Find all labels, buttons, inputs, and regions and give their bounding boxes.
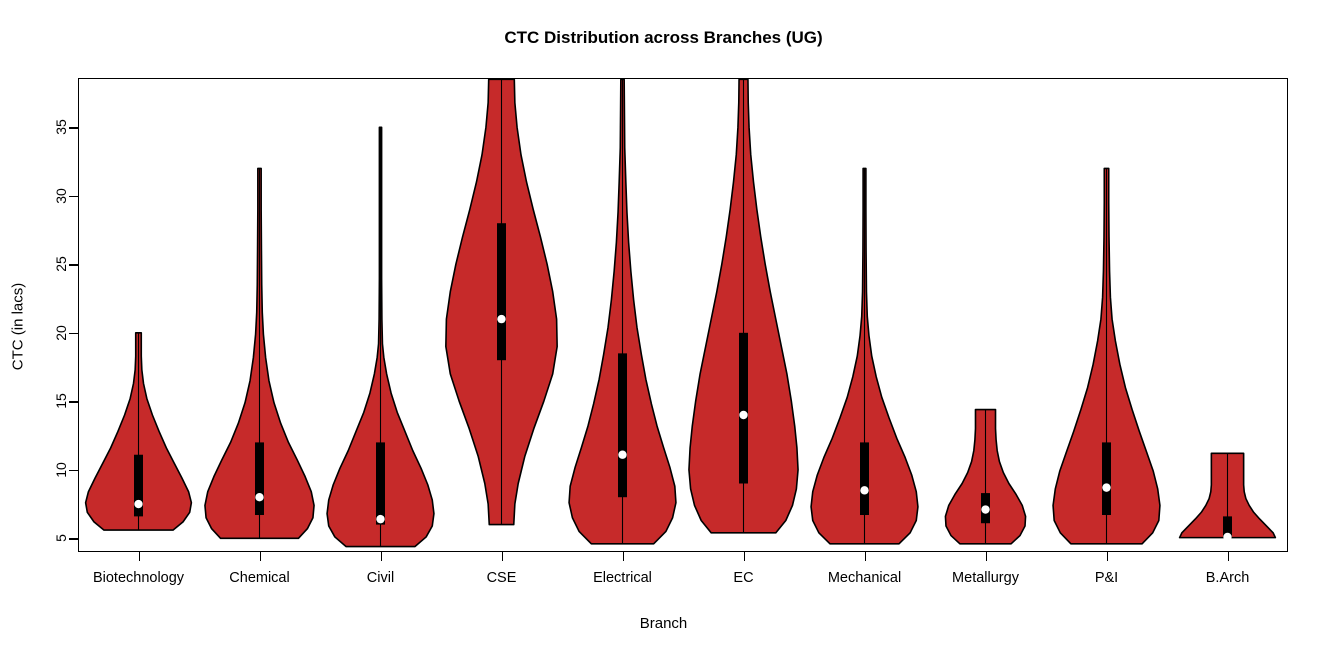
- x-tick-mark: [260, 552, 261, 561]
- y-tick-mark: [69, 264, 78, 265]
- violin-shapes-layer: [78, 78, 1288, 552]
- x-tick-label-metallurgy: Metallurgy: [952, 570, 1019, 586]
- violin-plot-figure: CTC Distribution across Branches (UG) CT…: [0, 0, 1327, 653]
- y-axis-title: CTC (in lacs): [6, 0, 30, 653]
- median-marker: [618, 451, 626, 459]
- median-marker: [376, 515, 384, 523]
- y-tick-label: 20: [53, 325, 69, 341]
- iqr-box: [497, 223, 506, 360]
- violin-cse: [446, 79, 557, 524]
- x-tick-mark: [744, 552, 745, 561]
- median-marker: [739, 411, 747, 419]
- iqr-box: [255, 442, 264, 515]
- y-tick-mark: [69, 538, 78, 539]
- x-tick-label-electrical: Electrical: [593, 570, 652, 586]
- violin-metallurgy: [945, 410, 1025, 544]
- x-tick-label-b-arch: B.Arch: [1206, 570, 1250, 586]
- median-marker: [981, 505, 989, 513]
- median-marker: [860, 486, 868, 494]
- x-tick-mark: [1107, 552, 1108, 561]
- violin-ec: [689, 79, 798, 532]
- violin-biotechnology: [86, 333, 192, 530]
- x-tick-label-p-i: P&I: [1095, 570, 1118, 586]
- iqr-box: [376, 442, 385, 524]
- median-marker: [255, 493, 263, 501]
- violin-b-arch: [1180, 453, 1276, 541]
- median-marker: [134, 500, 142, 508]
- y-tick-label: 30: [53, 188, 69, 204]
- x-tick-label-ec: EC: [733, 570, 753, 586]
- x-tick-mark: [502, 552, 503, 561]
- x-tick-mark: [139, 552, 140, 561]
- x-tick-mark: [865, 552, 866, 561]
- x-tick-mark: [986, 552, 987, 561]
- y-tick-mark: [69, 470, 78, 471]
- y-tick-mark: [69, 333, 78, 334]
- y-tick-mark: [69, 401, 78, 402]
- violin-electrical: [569, 79, 676, 543]
- y-tick-label: 35: [53, 120, 69, 136]
- median-marker: [1102, 483, 1110, 491]
- iqr-box: [860, 442, 869, 515]
- x-tick-label-civil: Civil: [367, 570, 394, 586]
- x-tick-mark: [623, 552, 624, 561]
- y-tick-mark: [69, 127, 78, 128]
- median-marker: [497, 315, 505, 323]
- x-tick-mark: [1228, 552, 1229, 561]
- violin-civil: [327, 127, 434, 546]
- y-tick-mark: [69, 196, 78, 197]
- iqr-box: [618, 353, 627, 497]
- plot-area: 5101520253035BiotechnologyChemicalCivilC…: [78, 78, 1288, 552]
- y-tick-label: 25: [53, 257, 69, 273]
- x-axis-title: Branch: [0, 615, 1327, 632]
- x-tick-label-mechanical: Mechanical: [828, 570, 901, 586]
- chart-title: CTC Distribution across Branches (UG): [0, 28, 1327, 48]
- y-tick-label: 5: [53, 534, 69, 542]
- y-axis-title-text: CTC (in lacs): [10, 283, 27, 371]
- x-tick-label-cse: CSE: [487, 570, 517, 586]
- x-tick-label-chemical: Chemical: [229, 570, 289, 586]
- y-tick-label: 15: [53, 394, 69, 410]
- median-marker: [1223, 533, 1231, 541]
- violin-mechanical: [811, 168, 918, 543]
- iqr-box: [1102, 442, 1111, 515]
- violin-p-i: [1053, 168, 1160, 543]
- y-tick-label: 10: [53, 462, 69, 478]
- x-tick-mark: [381, 552, 382, 561]
- iqr-box: [739, 333, 748, 484]
- violin-chemical: [205, 168, 314, 538]
- x-tick-label-biotechnology: Biotechnology: [93, 570, 184, 586]
